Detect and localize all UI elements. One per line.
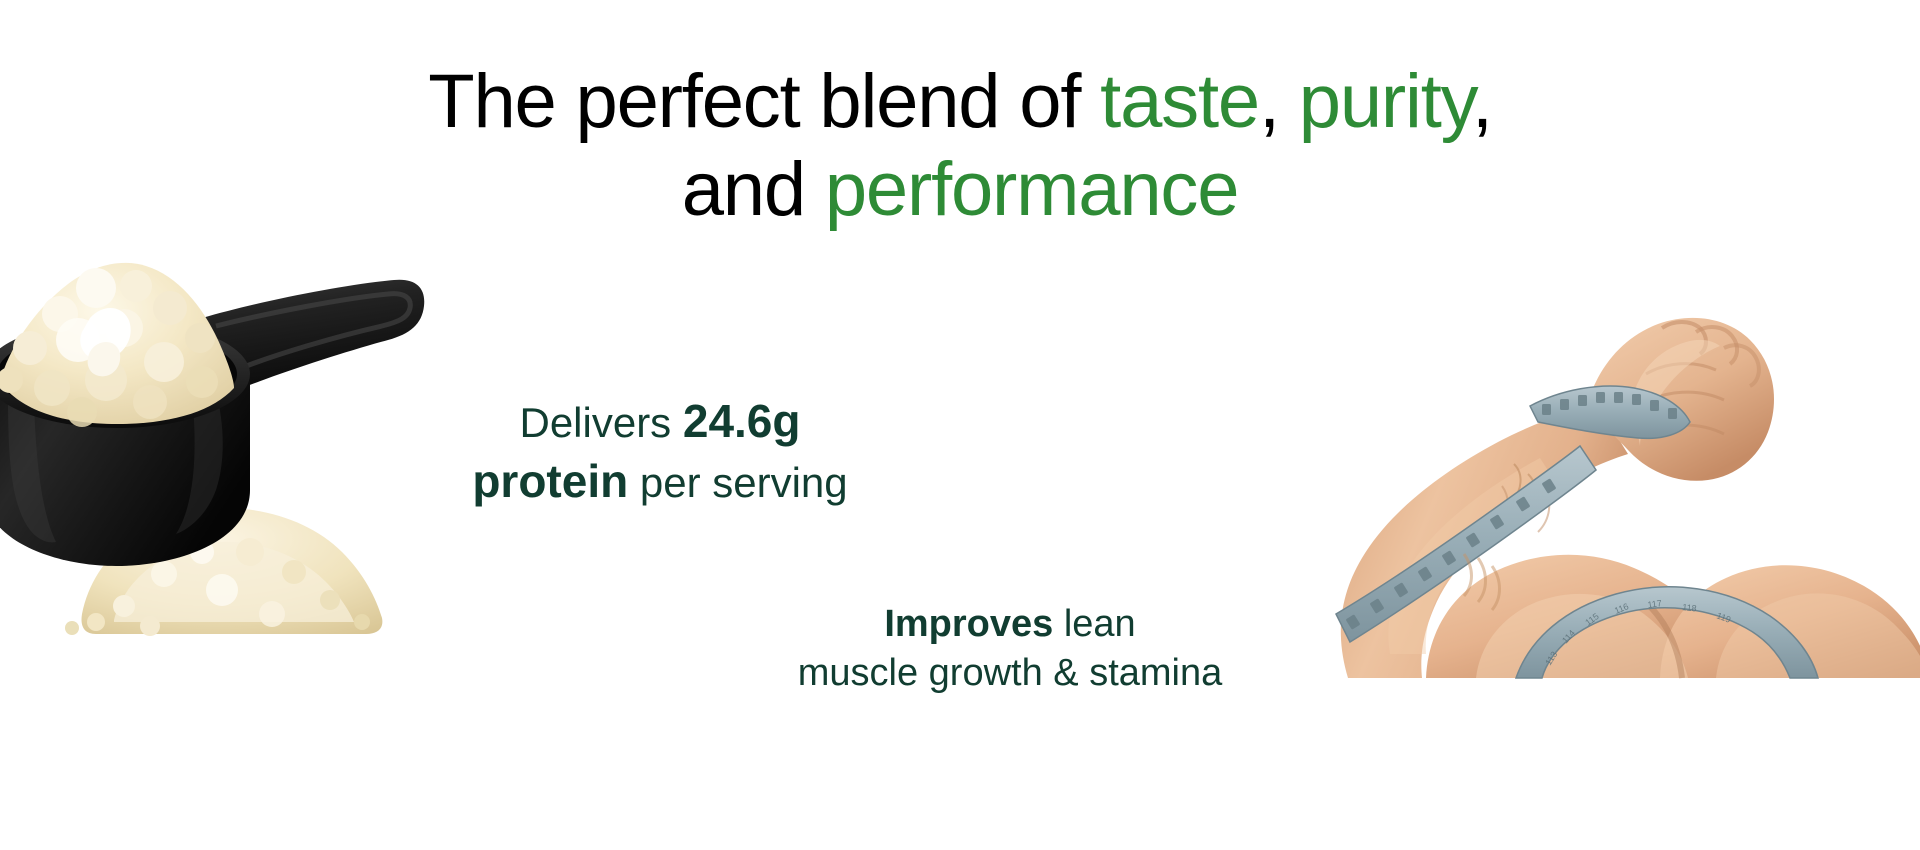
claim-muscle-line-1: Improves lean [884, 603, 1135, 645]
headline-comma-1: , [1259, 59, 1299, 144]
headline-accent-purity: purity [1299, 59, 1472, 144]
headline-text-2: and [682, 147, 825, 232]
claim-protein-suffix: per serving [628, 459, 847, 506]
claim-muscle-improves: Improves [884, 603, 1053, 645]
claim-muscle-growth: Improves lean muscle growth & stamina [700, 600, 1320, 699]
claim-protein-per-serving: Delivers 24.6g protein per serving [330, 392, 990, 512]
headline-line-1: The perfect blend of taste, purity, [0, 58, 1920, 146]
powder-in-scoop [0, 263, 234, 427]
headline-comma-2: , [1472, 59, 1492, 144]
claim-protein-amount: 24.6g [683, 395, 801, 447]
claim-muscle-line-2: muscle growth & stamina [798, 652, 1223, 694]
svg-text:117: 117 [1647, 598, 1663, 610]
page-title: The perfect blend of taste, purity, and … [0, 58, 1920, 234]
claim-protein-line-1: Delivers 24.6g [519, 399, 800, 446]
flexed-bicep-image: 113 114 115 116 117 118 119 [1230, 258, 1920, 678]
headline-text-1: The perfect blend of [428, 59, 1100, 144]
promo-banner: The perfect blend of taste, purity, and … [0, 0, 1920, 850]
headline-accent-taste: taste [1100, 59, 1259, 144]
claim-protein-prefix: Delivers [519, 399, 682, 446]
headline-line-2: and performance [0, 146, 1920, 234]
bicep-muscle [1426, 555, 1920, 678]
claim-protein-line-2: protein per serving [472, 459, 847, 506]
svg-text:118: 118 [1682, 602, 1697, 613]
claim-muscle-lean: lean [1053, 603, 1135, 645]
headline-accent-performance: performance [825, 147, 1238, 232]
claim-protein-word: protein [472, 455, 628, 507]
